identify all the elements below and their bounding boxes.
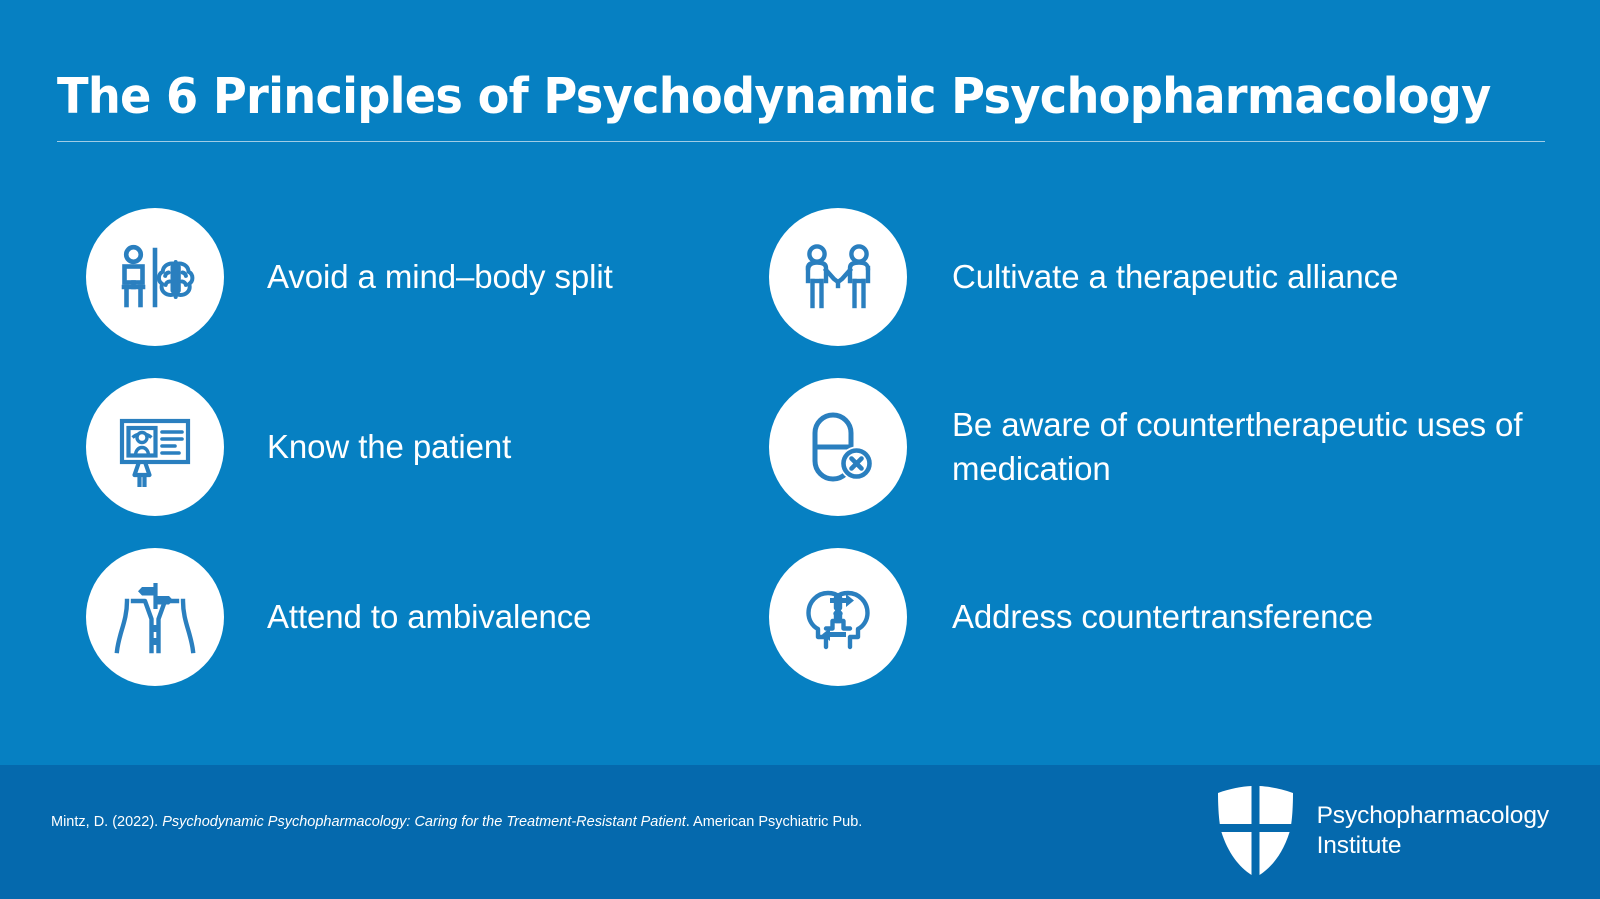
principle-item[interactable]: Know the patient	[86, 377, 726, 517]
principles-grid: Avoid a mind–body split	[0, 193, 1600, 733]
two-heads-exchange-arrows-icon	[796, 575, 880, 659]
principle-label: Cultivate a therapeutic alliance	[952, 255, 1398, 299]
principle-icon-badge	[86, 548, 224, 686]
principle-item[interactable]: Be aware of countertherapeutic uses of m…	[769, 377, 1529, 517]
capsule-pill-blocked-icon	[796, 405, 880, 489]
brand-name-line1: Psychopharmacology	[1317, 801, 1549, 831]
principle-icon-badge	[86, 208, 224, 346]
handshake-two-people-icon	[796, 235, 880, 319]
principle-item[interactable]: Cultivate a therapeutic alliance	[769, 207, 1529, 347]
principle-icon-badge	[769, 378, 907, 516]
patient-record-board-icon	[113, 405, 197, 489]
title-area: The 6 Principles of Psychodynamic Psycho…	[57, 70, 1547, 142]
principle-label: Be aware of countertherapeutic uses of m…	[952, 403, 1529, 491]
principle-item[interactable]: Address countertransference	[769, 547, 1529, 687]
forked-road-signpost-icon	[113, 575, 197, 659]
principle-icon-badge	[769, 548, 907, 686]
citation-publisher: . American Psychiatric Pub.	[686, 814, 863, 830]
principle-label: Avoid a mind–body split	[267, 255, 613, 299]
principle-icon-badge	[769, 208, 907, 346]
citation: Mintz, D. (2022). Psychodynamic Psychoph…	[51, 814, 862, 830]
brand-name-line2: Institute	[1317, 831, 1549, 861]
shield-quadrant-icon	[1213, 783, 1298, 878]
principle-label: Attend to ambivalence	[267, 595, 591, 639]
footer-band: Mintz, D. (2022). Psychodynamic Psychoph…	[0, 765, 1600, 899]
slide-root: The 6 Principles of Psychodynamic Psycho…	[0, 0, 1600, 899]
title-divider	[57, 141, 1545, 142]
brand-logo: Psychopharmacology Institute	[1213, 783, 1549, 878]
principle-item[interactable]: Attend to ambivalence	[86, 547, 726, 687]
citation-work-title: Psychodynamic Psychopharmacology: Caring…	[162, 814, 686, 830]
page-title: The 6 Principles of Psychodynamic Psycho…	[57, 70, 1465, 125]
principle-label: Know the patient	[267, 425, 511, 469]
citation-authors-year: Mintz, D. (2022).	[51, 814, 162, 830]
principle-label: Address countertransference	[952, 595, 1373, 639]
principle-icon-badge	[86, 378, 224, 516]
brand-name: Psychopharmacology Institute	[1317, 801, 1549, 861]
person-brain-split-icon	[113, 235, 197, 319]
principle-item[interactable]: Avoid a mind–body split	[86, 207, 726, 347]
